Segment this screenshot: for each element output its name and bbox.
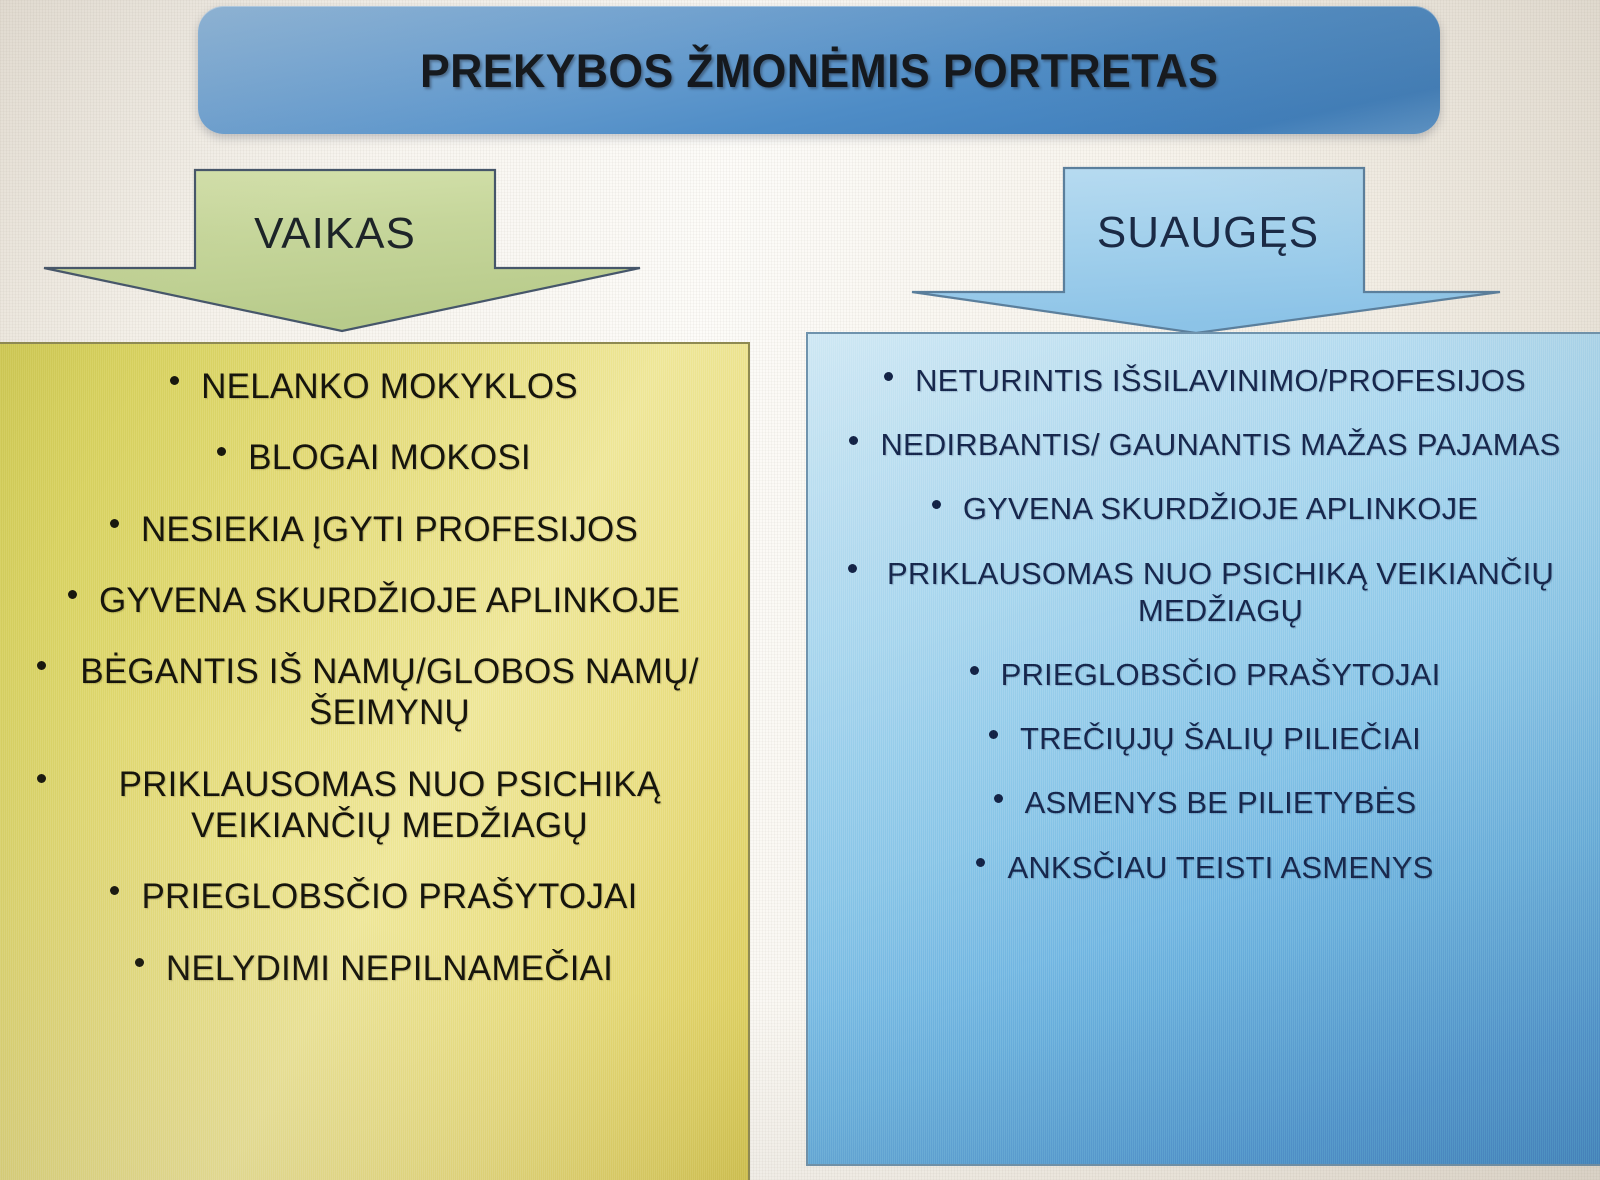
list-item: NELANKO MOKYKLOS xyxy=(0,366,748,407)
list-item: PRIEGLOBSČIO PRAŠYTOJAI xyxy=(808,656,1600,693)
list-item: GYVENA SKURDŽIOJE APLINKOJE xyxy=(808,490,1600,527)
list-item-label: ANKSČIAU TEISTI ASMENYS xyxy=(1007,849,1433,886)
bullet-dot-icon xyxy=(884,372,893,381)
bullet-dot-icon xyxy=(932,500,941,509)
list-item-label: NEDIRBANTIS/ GAUNANTIS MAŽAS PAJAMAS xyxy=(880,426,1560,463)
list-item-label: PRIEGLOBSČIO PRAŠYTOJAI xyxy=(141,876,637,917)
list-item-label: TREČIŲJŲ ŠALIŲ PILIEČIAI xyxy=(1020,720,1421,757)
slide-canvas: PREKYBOS ŽMONĖMIS PORTRETAS VAIKAS xyxy=(0,0,1600,1180)
title-banner: PREKYBOS ŽMONĖMIS PORTRETAS xyxy=(198,6,1440,134)
bullet-dot-icon xyxy=(849,436,858,445)
list-item-label: GYVENA SKURDŽIOJE APLINKOJE xyxy=(963,490,1478,527)
arrow-down-adult: SUAUGĘS xyxy=(908,166,1504,336)
list-item-label: NELANKO MOKYKLOS xyxy=(201,366,578,407)
list-item-label: PRIEGLOBSČIO PRAŠYTOJAI xyxy=(1001,656,1441,693)
bullet-dot-icon xyxy=(217,447,226,456)
list-item: BĖGANTIS IŠ NAMŲ/GLOBOS NAMŲ/ŠEIMYNŲ xyxy=(0,651,748,734)
bullet-dot-icon xyxy=(994,794,1003,803)
list-item-label: NELYDIMI NEPILNAMEČIAI xyxy=(166,948,613,989)
list-item-label: BLOGAI MOKOSI xyxy=(248,437,531,478)
arrow-label-child: VAIKAS xyxy=(254,209,416,259)
bullet-dot-icon xyxy=(170,376,179,385)
list-item-label: NESIEKIA ĮGYTI PROFESIJOS xyxy=(141,509,638,550)
bullet-dot-icon xyxy=(68,590,77,599)
list-item: ANKSČIAU TEISTI ASMENYS xyxy=(808,849,1600,886)
bullet-dot-icon xyxy=(989,730,998,739)
list-item-label: ASMENYS BE PILIETYBĖS xyxy=(1025,784,1417,821)
list-item-label: PRIKLAUSOMAS NUO PSICHIKĄ VEIKIANČIŲ MED… xyxy=(879,555,1562,629)
bullet-dot-icon xyxy=(37,774,46,783)
panel-child-profile: NELANKO MOKYKLOS BLOGAI MOKOSI NESIEKIA … xyxy=(0,342,750,1180)
bullet-dot-icon xyxy=(110,886,119,895)
list-item: NETURINTIS IŠSILAVINIMO/PROFESIJOS xyxy=(808,362,1600,399)
list-item: TREČIŲJŲ ŠALIŲ PILIEČIAI xyxy=(808,720,1600,757)
list-item: PRIEGLOBSČIO PRAŠYTOJAI xyxy=(0,876,748,917)
arrow-down-child: VAIKAS xyxy=(40,168,644,334)
list-item: PRIKLAUSOMAS NUO PSICHIKĄ VEIKIANČIŲ MED… xyxy=(808,555,1600,629)
bullet-list-child: NELANKO MOKYKLOS BLOGAI MOKOSI NESIEKIA … xyxy=(0,344,748,1019)
list-item: PRIKLAUSOMAS NUO PSICHIKĄ VEIKIANČIŲ MED… xyxy=(0,764,748,847)
list-item: BLOGAI MOKOSI xyxy=(0,437,748,478)
bullet-dot-icon xyxy=(135,958,144,967)
page-title: PREKYBOS ŽMONĖMIS PORTRETAS xyxy=(420,43,1218,98)
list-item-label: PRIKLAUSOMAS NUO PSICHIKĄ VEIKIANČIŲ MED… xyxy=(68,764,711,847)
panel-adult-profile: NETURINTIS IŠSILAVINIMO/PROFESIJOS NEDIR… xyxy=(806,332,1600,1166)
bullet-dot-icon xyxy=(848,564,857,573)
bullet-list-adult: NETURINTIS IŠSILAVINIMO/PROFESIJOS NEDIR… xyxy=(808,334,1600,913)
list-item-label: BĖGANTIS IŠ NAMŲ/GLOBOS NAMŲ/ŠEIMYNŲ xyxy=(68,651,711,734)
list-item-label: NETURINTIS IŠSILAVINIMO/PROFESIJOS xyxy=(915,362,1526,399)
arrow-label-adult: SUAUGĘS xyxy=(1097,208,1319,258)
bullet-dot-icon xyxy=(970,666,979,675)
bullet-dot-icon xyxy=(976,858,985,867)
list-item-label: GYVENA SKURDŽIOJE APLINKOJE xyxy=(99,580,680,621)
list-item: NELYDIMI NEPILNAMEČIAI xyxy=(0,948,748,989)
bullet-dot-icon xyxy=(37,661,46,670)
list-item: GYVENA SKURDŽIOJE APLINKOJE xyxy=(0,580,748,621)
list-item: NEDIRBANTIS/ GAUNANTIS MAŽAS PAJAMAS xyxy=(808,426,1600,463)
bullet-dot-icon xyxy=(110,519,119,528)
list-item: ASMENYS BE PILIETYBĖS xyxy=(808,784,1600,821)
list-item: NESIEKIA ĮGYTI PROFESIJOS xyxy=(0,509,748,550)
